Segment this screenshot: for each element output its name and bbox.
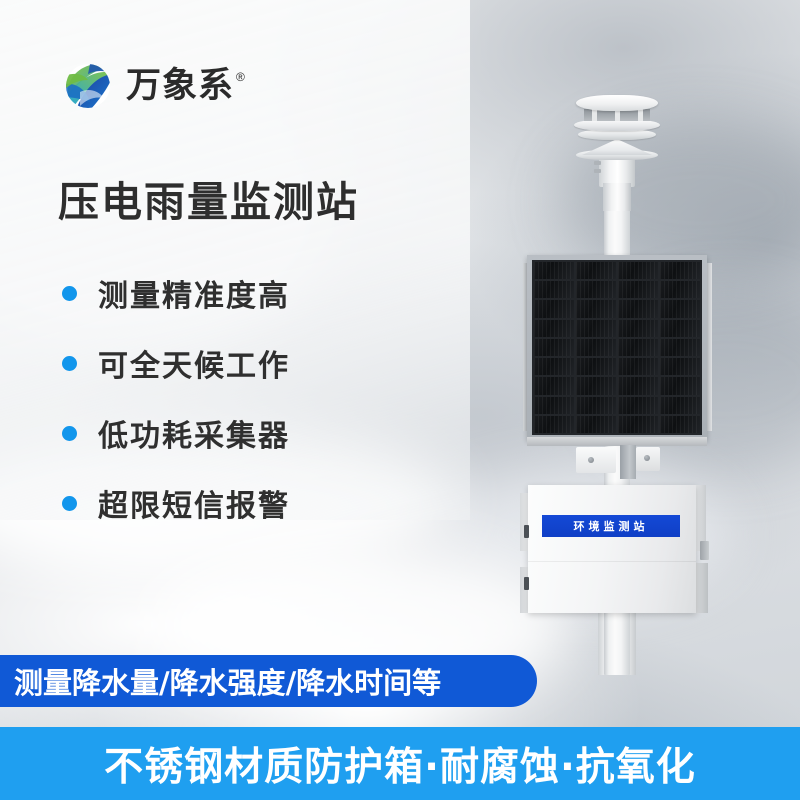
enclosure-label: 环境监测站 xyxy=(542,515,680,537)
solar-cell xyxy=(660,281,700,298)
solar-cell xyxy=(576,397,616,414)
solar-cell xyxy=(660,300,700,317)
solar-cell xyxy=(618,300,658,317)
solar-cell xyxy=(618,262,658,279)
solar-cell xyxy=(660,320,700,337)
pill-banner-text: 测量降水量/降水强度/降水时间等 xyxy=(0,660,441,702)
solar-cell xyxy=(660,339,700,356)
solar-cell xyxy=(534,377,574,394)
list-item: 低功耗采集器 xyxy=(62,398,290,468)
brand-logo: 万象系 ® xyxy=(60,58,245,114)
solar-cell xyxy=(534,300,574,317)
bullet-dot-icon xyxy=(62,286,77,301)
solar-panel-icon xyxy=(527,255,707,440)
enclosure-latch-icon xyxy=(700,541,709,560)
enclosure-label-text: 环境监测站 xyxy=(574,518,649,534)
solar-cell xyxy=(576,300,616,317)
product-poster: 环境监测站 xyxy=(0,0,800,800)
solar-cell xyxy=(534,281,574,298)
solar-cell xyxy=(618,358,658,375)
solar-cell xyxy=(618,377,658,394)
solar-cell xyxy=(576,320,616,337)
feature-label: 可全天候工作 xyxy=(98,341,290,385)
solar-cell xyxy=(660,397,700,414)
registered-mark: ® xyxy=(236,71,245,83)
solar-cell xyxy=(576,377,616,394)
list-item: 可全天候工作 xyxy=(62,328,290,398)
solar-cell xyxy=(534,358,574,375)
mounting-bracket-icon xyxy=(576,445,660,481)
solar-cell xyxy=(660,358,700,375)
solar-cell xyxy=(534,339,574,356)
solar-cell xyxy=(660,262,700,279)
equipment-enclosure: 环境监测站 xyxy=(520,485,715,613)
enclosure-hinge-icon xyxy=(524,525,529,538)
feature-label: 测量精准度高 xyxy=(98,271,290,315)
brand-name: 万象系 xyxy=(126,69,234,104)
solar-cell xyxy=(576,358,616,375)
solar-cell xyxy=(618,281,658,298)
feature-label: 超限短信报警 xyxy=(98,481,290,525)
solar-cell xyxy=(534,262,574,279)
solar-cell xyxy=(660,377,700,394)
solar-cell xyxy=(576,339,616,356)
solar-cell xyxy=(534,320,574,337)
bullet-dot-icon xyxy=(62,426,77,441)
feature-label: 低功耗采集器 xyxy=(98,411,290,455)
feature-pill-banner: 测量降水量/降水强度/降水时间等 xyxy=(0,655,537,707)
ultrasonic-weather-sensor-icon xyxy=(562,95,672,211)
solar-cell xyxy=(618,339,658,356)
feature-list: 测量精准度高 可全天候工作 低功耗采集器 超限短信报警 xyxy=(62,258,290,538)
solar-cell xyxy=(534,416,574,433)
solar-cell xyxy=(576,281,616,298)
page-title: 压电雨量监测站 xyxy=(58,168,359,228)
enclosure-hinge-icon xyxy=(524,577,529,590)
bullet-dot-icon xyxy=(62,356,77,371)
bottom-banner: 不锈钢材质防护箱·耐腐蚀·抗氧化 xyxy=(0,727,800,800)
solar-cell xyxy=(618,416,658,433)
solar-cell xyxy=(534,397,574,414)
globe-swirl-logo-icon xyxy=(60,58,116,114)
solar-cell xyxy=(618,397,658,414)
bottom-banner-text: 不锈钢材质防护箱·耐腐蚀·抗氧化 xyxy=(104,736,696,792)
list-item: 超限短信报警 xyxy=(62,468,290,538)
solar-cell xyxy=(576,416,616,433)
solar-cell xyxy=(618,320,658,337)
solar-cell xyxy=(576,262,616,279)
list-item: 测量精准度高 xyxy=(62,258,290,328)
weather-station-device: 环境监测站 xyxy=(500,95,750,670)
bullet-dot-icon xyxy=(62,496,77,511)
solar-cell xyxy=(660,416,700,433)
